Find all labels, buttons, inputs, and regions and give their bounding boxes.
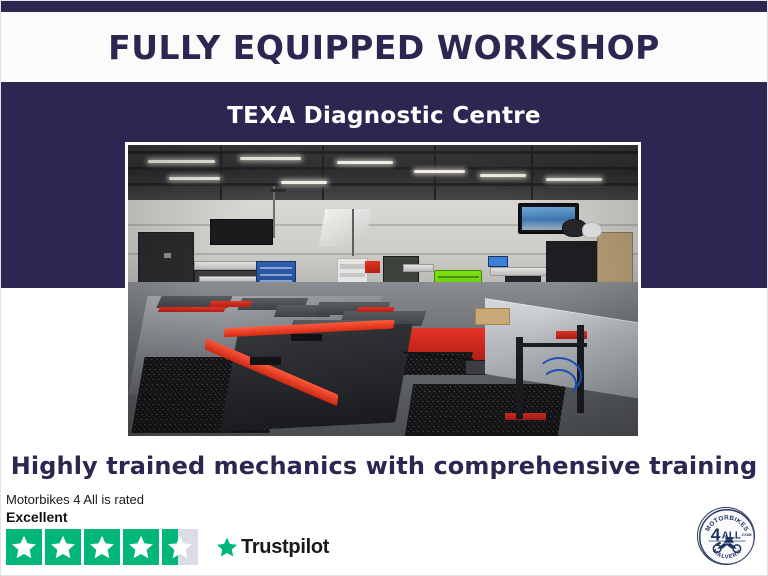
star-icon <box>45 529 81 565</box>
top-navy-band <box>0 0 768 12</box>
page-title: FULLY EQUIPPED WORKSHOP <box>108 28 660 67</box>
trustpilot-rated-text: Motorbikes 4 All is rated <box>6 492 329 508</box>
star-icon <box>123 529 159 565</box>
workshop-photo <box>128 145 638 436</box>
svg-text:.COM: .COM <box>741 532 752 537</box>
workshop-photo-frame <box>125 142 641 439</box>
motorbikes4all-logo[interactable]: MOTORBIKES MALVERN 4 ALL .COM <box>697 507 755 565</box>
trustpilot-rating-word: Excellent <box>6 509 329 526</box>
star-icon <box>6 529 42 565</box>
trustpilot-logo[interactable]: Trustpilot <box>216 536 329 559</box>
star-icon-partial <box>162 529 198 565</box>
slide-canvas: FULLY EQUIPPED WORKSHOP TEXA Diagnostic … <box>0 0 768 576</box>
trustpilot-rating-row: Trustpilot <box>6 529 329 565</box>
star-icon <box>84 529 120 565</box>
svg-text:4: 4 <box>711 524 721 544</box>
trustpilot-star-icon <box>216 536 238 558</box>
subtitle-container: TEXA Diagnostic Centre <box>0 96 768 136</box>
tagline-container: Highly trained mechanics with comprehens… <box>0 448 768 484</box>
motorbikes4all-logo-graphic: MOTORBIKES MALVERN 4 ALL .COM <box>698 508 755 565</box>
trustpilot-wordmark: Trustpilot <box>241 536 329 559</box>
subtitle: TEXA Diagnostic Centre <box>227 103 541 129</box>
headline-band: FULLY EQUIPPED WORKSHOP <box>0 12 768 82</box>
trustpilot-star-rating <box>6 529 198 565</box>
trustpilot-widget[interactable]: Motorbikes 4 All is rated Excellent <box>6 492 329 565</box>
tagline: Highly trained mechanics with comprehens… <box>11 452 757 480</box>
